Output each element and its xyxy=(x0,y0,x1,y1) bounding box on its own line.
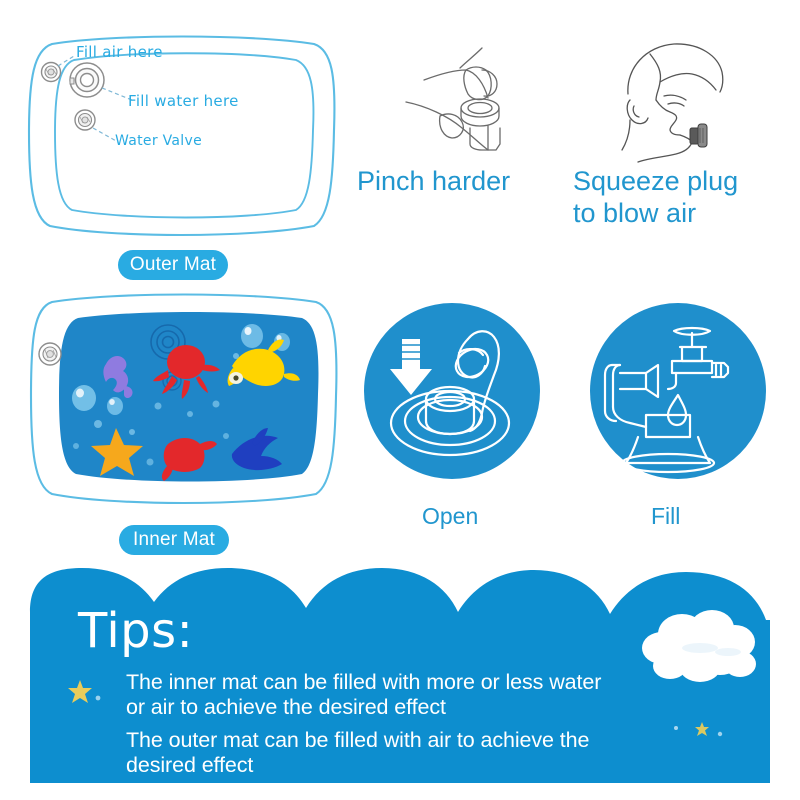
water-fill-valve xyxy=(70,63,104,97)
pinch-fingers-icon xyxy=(400,40,560,160)
open-step-circle xyxy=(364,303,540,479)
tips-text-line-1: The inner mat can be filled with more or… xyxy=(126,670,736,720)
tips-heading: Tips: xyxy=(78,603,193,659)
faucet-fill-icon xyxy=(590,303,766,479)
pinch-harder-step xyxy=(400,40,560,160)
head-profile-icon xyxy=(612,38,762,163)
star-decor-left-icon xyxy=(68,678,102,708)
callout-fill-air-here: Fill air here xyxy=(76,43,163,61)
callout-fill-water-here: Fill water here xyxy=(128,92,239,110)
open-step-label: Open xyxy=(422,503,478,530)
inner-mat-diagram xyxy=(20,286,345,511)
fill-step-label: Fill xyxy=(651,503,680,530)
fill-step-circle xyxy=(590,303,766,479)
callout-water-valve: Water Valve xyxy=(115,133,202,149)
down-arrow-icon xyxy=(390,339,432,395)
tips-text-line-2: The outer mat can be filled with air to … xyxy=(126,728,746,778)
outer-mat-diagram: Fill air here Fill water here Water Valv… xyxy=(22,30,342,245)
mouth-plug xyxy=(690,124,707,147)
squeeze-plug-step xyxy=(612,38,762,163)
inner-mat-pill: Inner Mat xyxy=(119,525,229,555)
outer-mat-pill: Outer Mat xyxy=(118,250,228,280)
squeeze-plug-label: Squeeze plug to blow air xyxy=(573,165,788,229)
inner-mat-water-area xyxy=(59,312,318,482)
water-valve xyxy=(75,110,95,130)
inner-mat-valve xyxy=(39,343,61,365)
pinch-harder-label: Pinch harder xyxy=(357,165,557,197)
air-valve xyxy=(42,63,61,82)
inner-mat-illustration xyxy=(20,286,345,511)
infographic-canvas: Fill air here Fill water here Water Valv… xyxy=(0,0,800,800)
tips-panel: Tips: The inner mat can be filled with m… xyxy=(30,568,770,783)
valve-open-icon xyxy=(364,303,540,479)
